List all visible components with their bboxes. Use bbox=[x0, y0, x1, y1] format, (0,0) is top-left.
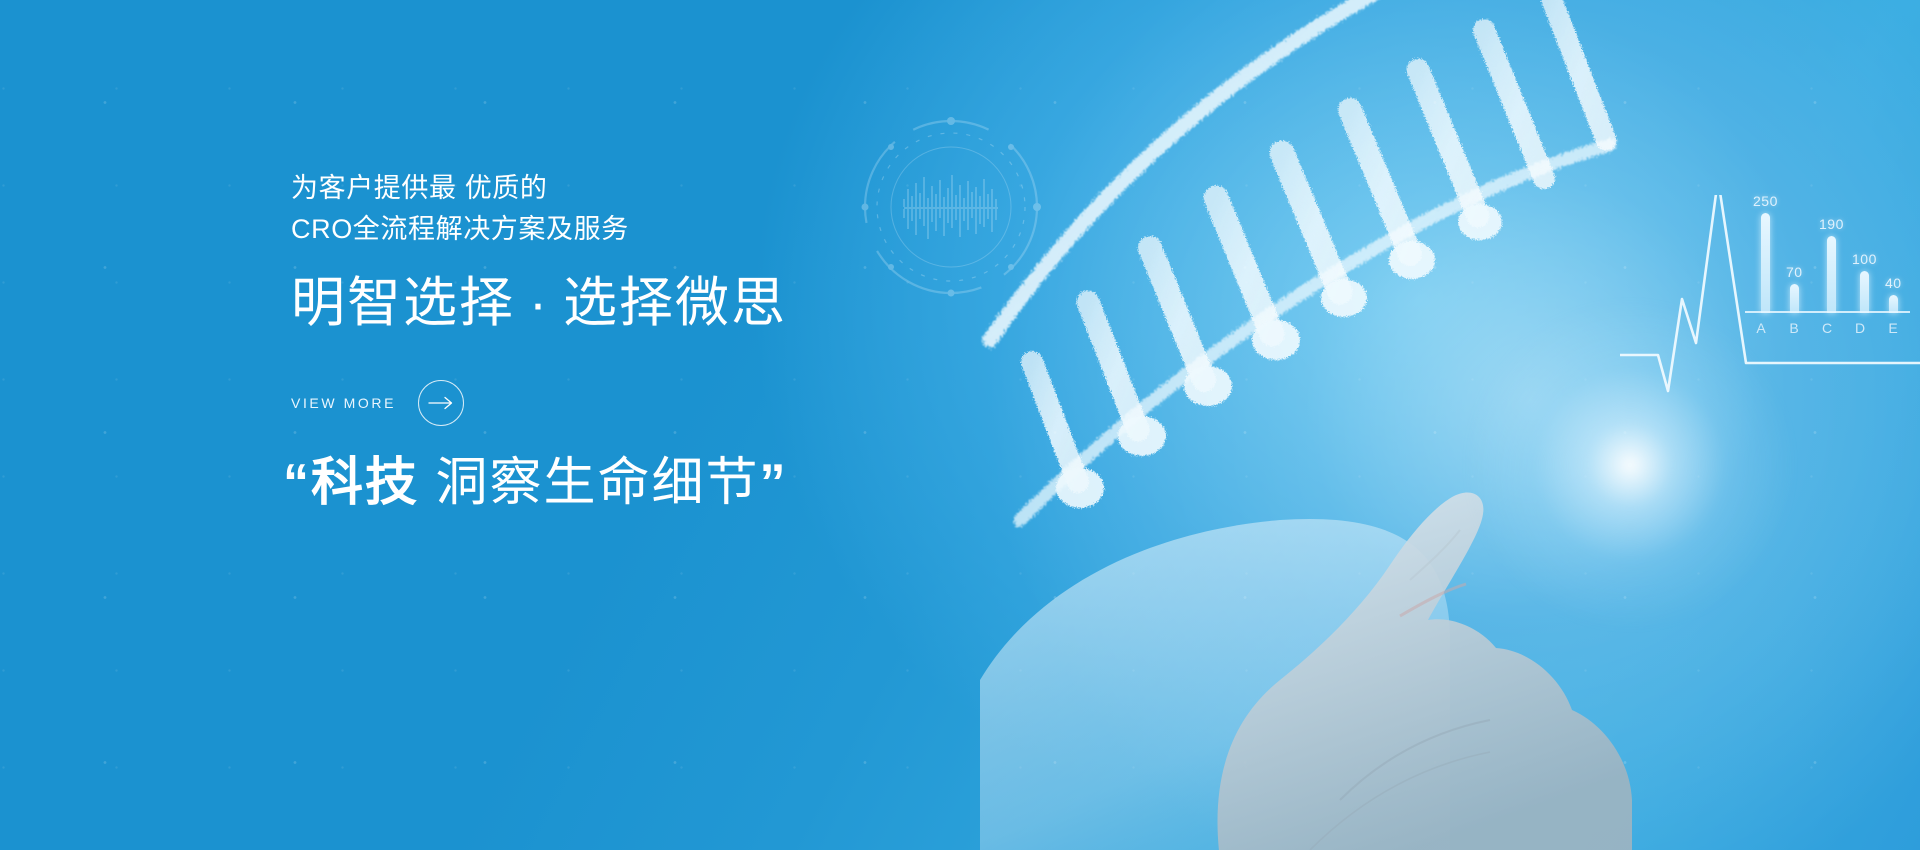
hero-tagline: “科技 洞察生命细节” bbox=[283, 452, 1003, 514]
bar-d bbox=[1860, 271, 1869, 313]
hero-banner: 250 70 190 100 40 A B C bbox=[0, 0, 1920, 850]
hero-headline-separator: · bbox=[515, 273, 563, 333]
hero-subtitle: 为客户提供最 优质的 CRO全流程解决方案及服务 bbox=[291, 168, 951, 250]
chart-category-b: B bbox=[1778, 320, 1811, 336]
bar-value-d: 100 bbox=[1852, 251, 1877, 267]
bar-c bbox=[1827, 236, 1836, 313]
bar-value-c: 190 bbox=[1819, 216, 1844, 232]
hero-subtitle-line-2: CRO全流程解决方案及服务 bbox=[291, 209, 951, 250]
hero-tagline-strong: 科技 bbox=[311, 454, 419, 512]
hero-tagline-light: 洞察生命细节 bbox=[419, 454, 759, 512]
arrow-right-icon[interactable] bbox=[418, 380, 464, 426]
bar-value-b: 70 bbox=[1786, 264, 1803, 280]
chart-category-e: E bbox=[1877, 320, 1910, 336]
bar-a bbox=[1761, 213, 1770, 313]
bar-chart: 250 70 190 100 40 A B C bbox=[1745, 185, 1910, 345]
bar-chart-plot: 250 70 190 100 40 bbox=[1745, 185, 1910, 313]
view-more-label: VIEW MORE bbox=[291, 395, 396, 411]
quote-open: “ bbox=[283, 454, 311, 512]
quote-close: ” bbox=[759, 454, 787, 512]
hero-copy: 为客户提供最 优质的 CRO全流程解决方案及服务 明智选择·选择微思 VIEW … bbox=[291, 0, 911, 850]
chart-axis-line bbox=[1745, 311, 1910, 313]
bar-value-a: 250 bbox=[1753, 193, 1778, 209]
bar-e bbox=[1889, 295, 1898, 313]
hero-headline-left: 明智选择 bbox=[291, 273, 515, 333]
hero-headline: 明智选择·选择微思 bbox=[291, 272, 991, 336]
hero-headline-right: 选择微思 bbox=[563, 273, 787, 333]
chart-category-labels: A B C D E bbox=[1745, 320, 1910, 336]
chart-category-a: A bbox=[1745, 320, 1778, 336]
bar-value-e: 40 bbox=[1885, 275, 1902, 291]
bar-b bbox=[1790, 284, 1799, 313]
hero-subtitle-line-1: 为客户提供最 优质的 bbox=[291, 173, 548, 203]
chart-category-c: C bbox=[1811, 320, 1844, 336]
view-more-button[interactable]: VIEW MORE bbox=[291, 380, 464, 426]
fingertip-glow bbox=[1420, 300, 1840, 630]
chart-category-d: D bbox=[1844, 320, 1877, 336]
